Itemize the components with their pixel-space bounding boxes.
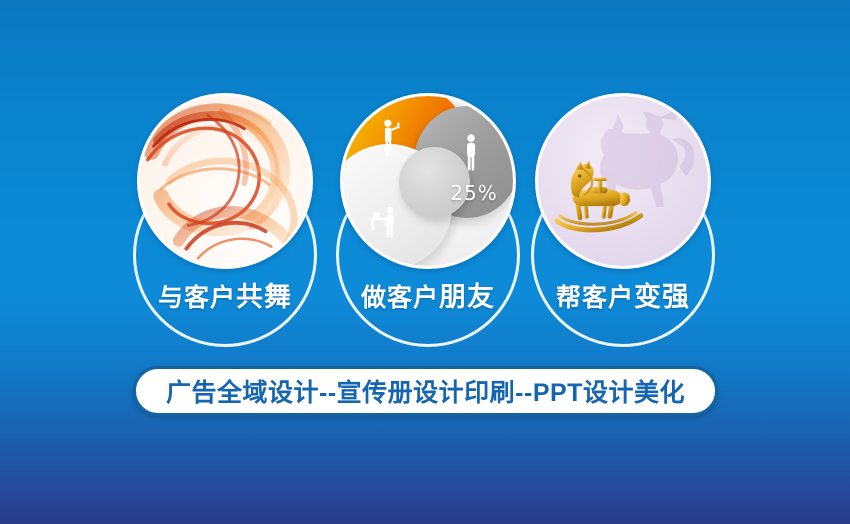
percentage-label: 25%: [450, 181, 497, 205]
percentage-value: 25%: [450, 181, 497, 205]
feature-card-make-client-stronger[interactable]: 帮客户变强: [523, 85, 723, 345]
feature-image-circle: [137, 93, 313, 269]
person-standing-icon: [460, 133, 482, 172]
smoke-swirl-graphic: [140, 96, 310, 266]
services-banner-pill[interactable]: 广告全域设计--宣传册设计印刷--PPT设计美化: [133, 366, 718, 416]
promo-banner-stage: 与客户共舞: [0, 0, 850, 524]
feature-label-heavy: 变强: [634, 282, 690, 312]
person-at-desk-icon: [367, 205, 403, 241]
feature-label-light: 帮客户: [556, 284, 634, 312]
feature-label-heavy: 共舞: [236, 282, 292, 312]
infographic-pie-chart-image: 25%: [343, 96, 513, 266]
feature-image-circle: [535, 93, 711, 269]
orange-smoke-abstract-image: [140, 96, 310, 266]
feature-image-circle: 25%: [340, 93, 516, 269]
person-with-flag-icon: [377, 118, 406, 159]
feature-label-heavy: 朋友: [439, 282, 495, 312]
feature-label: 做客户朋友: [328, 281, 528, 314]
services-banner-text: 广告全域设计--宣传册设计印刷--PPT设计美化: [166, 373, 685, 409]
feature-label-light: 与客户: [158, 284, 236, 312]
golden-rocking-horse-image: [538, 96, 708, 266]
feature-card-be-client-friend[interactable]: 25% 做客户朋友: [328, 85, 528, 345]
rocking-horse-toy: [552, 154, 647, 242]
feature-card-dance-with-client[interactable]: 与客户共舞: [125, 85, 325, 345]
feature-label-light: 做客户: [361, 284, 439, 312]
feature-label: 帮客户变强: [523, 281, 723, 314]
feature-label: 与客户共舞: [125, 281, 325, 314]
